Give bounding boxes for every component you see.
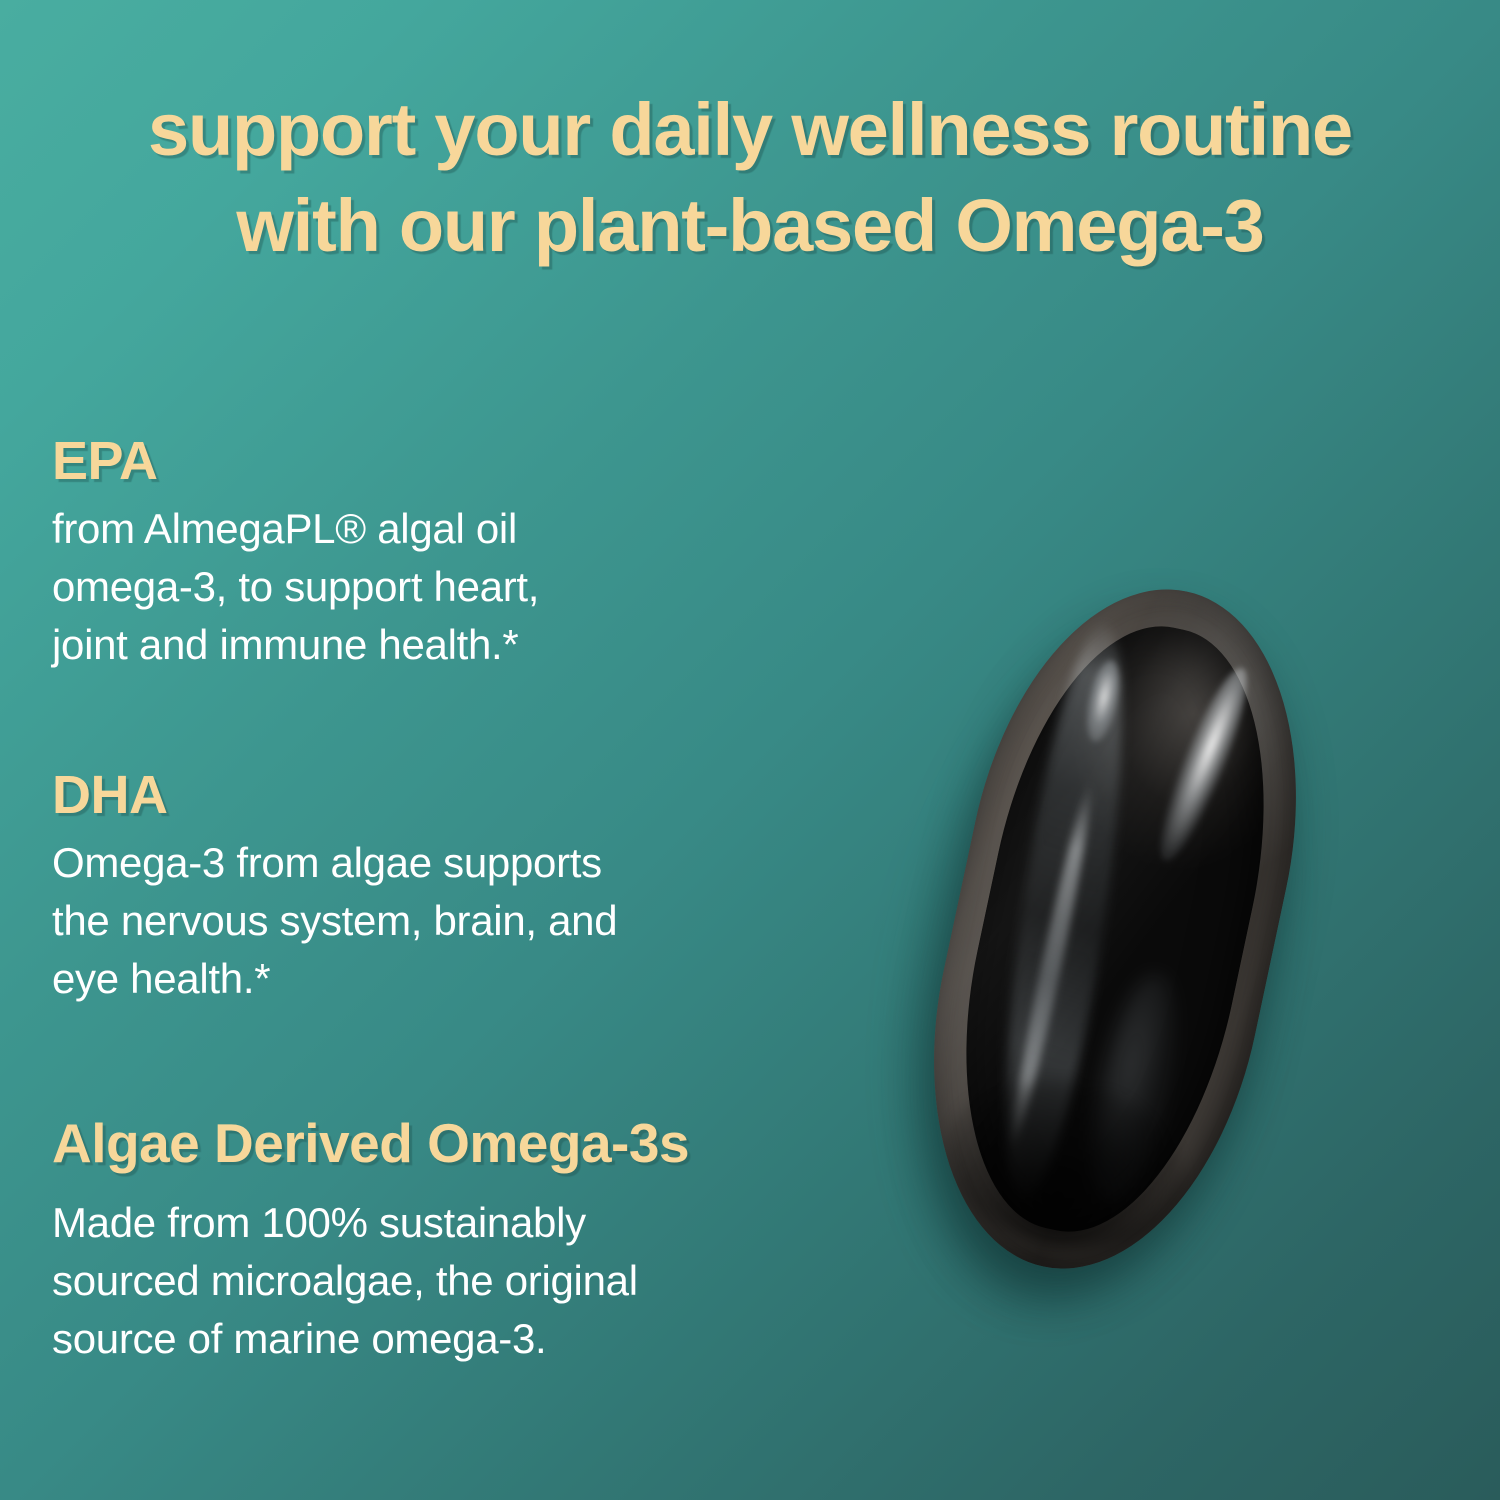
feature-list: EPA from AlmegaPL® algal oil omega-3, to… [52,432,882,1368]
capsule-body [888,558,1343,1299]
feature-body-line: the nervous system, brain, and [52,892,882,950]
feature-body-line: joint and immune health.* [52,616,882,674]
feature-body-epa: from AlmegaPL® algal oil omega-3, to sup… [52,500,882,674]
feature-item-dha: DHA Omega-3 from algae supports the nerv… [52,766,882,1008]
feature-title-dha: DHA [52,766,882,824]
feature-body-line: eye health.* [52,950,882,1008]
feature-body-line: sourced microalgae, the original [52,1252,882,1310]
product-feature-poster: support your daily wellness routine with… [0,0,1500,1500]
feature-title-algae-derived: Algae Derived Omega-3s [52,1112,882,1174]
feature-body-line: Omega-3 from algae supports [52,834,882,892]
feature-body-line: source of marine omega-3. [52,1310,882,1368]
feature-body-algae-derived: Made from 100% sustainably sourced micro… [52,1194,882,1368]
page-title: support your daily wellness routine with… [0,82,1500,274]
feature-body-dha: Omega-3 from algae supports the nervous … [52,834,882,1008]
feature-body-line: omega-3, to support heart, [52,558,882,616]
feature-item-algae-derived: Algae Derived Omega-3s Made from 100% su… [52,1112,882,1368]
feature-item-epa: EPA from AlmegaPL® algal oil omega-3, to… [52,432,882,674]
headline-line-2: with our plant-based Omega-3 [0,178,1500,274]
product-image-softgel-capsule [900,540,1400,1330]
headline-line-1: support your daily wellness routine [0,82,1500,178]
feature-title-epa: EPA [52,432,882,490]
feature-body-line: Made from 100% sustainably [52,1194,882,1252]
feature-body-line: from AlmegaPL® algal oil [52,500,882,558]
